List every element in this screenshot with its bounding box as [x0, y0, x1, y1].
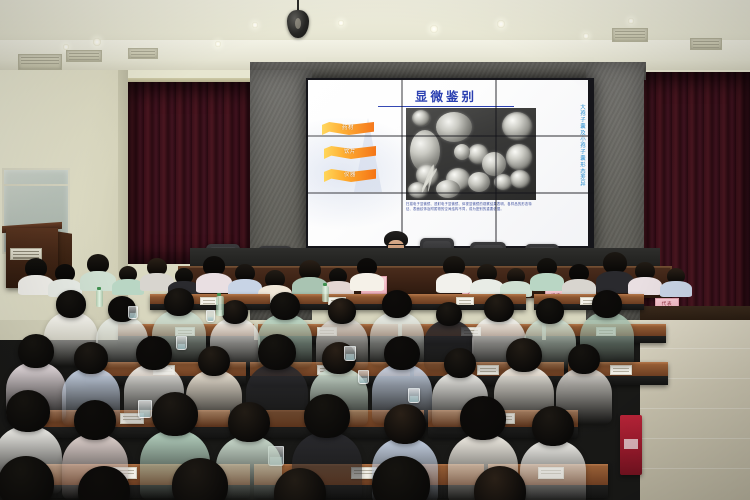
audience-head [258, 334, 296, 370]
audience-head [444, 348, 476, 378]
audience-shoulders [350, 273, 384, 291]
audience-member [228, 264, 262, 298]
water-glass [344, 346, 356, 361]
audience-head [506, 338, 542, 372]
audience-member [350, 258, 384, 292]
audience-member [0, 456, 66, 500]
audience-member [470, 264, 504, 298]
water-glass [206, 310, 215, 322]
audience-head [474, 466, 526, 500]
audience-member [66, 466, 142, 500]
water-bottle [96, 290, 103, 307]
audience-head [74, 342, 108, 374]
audience-head [304, 394, 350, 438]
audience-member [360, 456, 442, 500]
audience-shoulders [530, 273, 564, 291]
water-glass [358, 370, 369, 384]
audience-head [382, 290, 412, 318]
water-glass [176, 336, 187, 350]
audience-head [270, 292, 300, 320]
audience-member [530, 258, 564, 292]
audience-head [536, 298, 564, 324]
audience-head [484, 294, 514, 322]
audience-head [152, 392, 198, 436]
audience-head [460, 396, 506, 440]
water-glass [408, 388, 420, 403]
lecture-hall-photo: 显微鉴别 药材 饮片 仪器 扫描电子显微镜、透射电子显微镜、体视显微镜的观察结果… [0, 0, 750, 500]
water-bottle [322, 286, 329, 302]
audience-head [328, 298, 356, 324]
audience-head [78, 466, 130, 500]
audience-head [384, 404, 426, 444]
audience-head [172, 458, 228, 500]
audience-head [164, 288, 194, 316]
water-bottle [216, 296, 224, 316]
desk-number-tag [610, 365, 632, 375]
audience-member [436, 256, 472, 292]
audience-head [228, 402, 270, 442]
audience-member [80, 254, 116, 290]
audience-member [462, 466, 538, 500]
audience-head [568, 344, 600, 374]
audience-shoulders [436, 273, 472, 293]
audience-head [436, 302, 462, 326]
audience-member [292, 394, 362, 478]
audience-head [274, 468, 326, 500]
audience-head [74, 400, 116, 440]
audience-member [196, 256, 232, 292]
audience-head [384, 336, 420, 370]
seated-audience [0, 250, 750, 500]
audience-head [198, 346, 230, 376]
audience-member [372, 336, 432, 410]
audience-head [6, 390, 50, 432]
audience-member [160, 458, 240, 500]
audience-head [56, 290, 86, 318]
audience-shoulders [660, 281, 692, 297]
audience-member [262, 468, 338, 500]
audience-member [556, 344, 612, 414]
audience-head [0, 456, 54, 500]
audience-head [592, 290, 622, 318]
audience-head [136, 336, 172, 370]
water-glass [128, 306, 138, 319]
audience-head [18, 334, 54, 368]
audience-head [222, 300, 248, 324]
audience-head [532, 406, 574, 446]
audience-head [372, 456, 430, 500]
audience-member [660, 268, 692, 300]
